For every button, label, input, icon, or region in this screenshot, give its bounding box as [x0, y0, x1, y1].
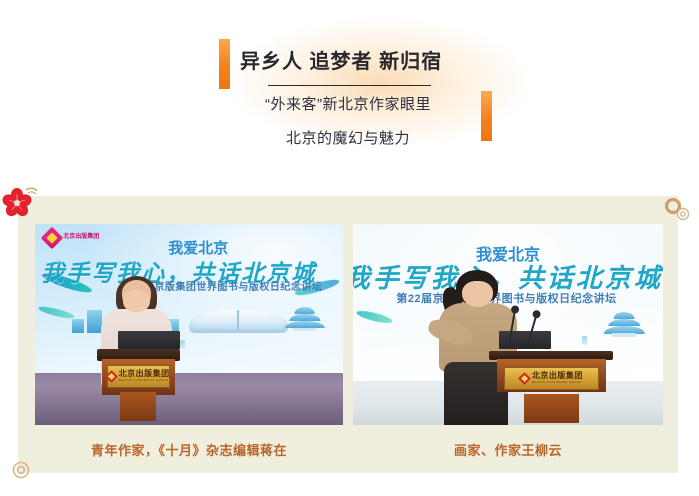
photo-caption-left: 青年作家，《十月》杂志编辑蒋在	[35, 440, 343, 459]
podium-logo-mark-icon	[107, 370, 118, 383]
podium-stem	[120, 392, 157, 421]
plum-blossom-icon	[2, 183, 42, 223]
publisher-logo-left: 北京出版集团	[44, 230, 99, 246]
photo-right[interactable]: 我爱北京 我手写我心，共话北京城 第22届京版集团世界图书与版权日纪念讲坛 北京…	[353, 224, 663, 425]
concentric-circles-icon	[664, 197, 694, 223]
ribbon-swoosh-icon	[356, 309, 394, 326]
photo-caption-right: 画家、作家王柳云	[353, 440, 663, 459]
stage-backdrop-left: 我爱北京 我手写我心，共话北京城 第22届京版集团世界图书与版权日纪念讲坛 北京…	[35, 224, 343, 373]
podium-sign-text-en: BEIJING PUBLISHING GROUP	[532, 381, 583, 384]
laptop-icon	[118, 331, 180, 349]
water-bottle-icon	[180, 340, 185, 349]
subtitle-line-1: “外来客”新北京作家眼里	[198, 93, 498, 114]
podium-logo-mark-icon	[518, 372, 531, 385]
page-title: 异乡人 追梦者 新归宿	[240, 48, 500, 76]
podium-right: 北京出版集团 BEIJING PUBLISHING GROUP	[489, 351, 613, 423]
subtitle-line-2: 北京的魔幻与魅力	[198, 127, 498, 148]
publisher-logo-text: 北京出版集团	[63, 234, 99, 242]
water-bottle-icon	[582, 336, 587, 345]
podium-plaque-right: 北京出版集团 BEIJING PUBLISHING GROUP	[504, 367, 598, 390]
publisher-logo-mark-icon	[41, 227, 64, 250]
accent-bar-left	[219, 39, 230, 89]
temple-of-heaven-icon	[604, 310, 644, 337]
photo-left[interactable]: 我爱北京 我手写我心，共话北京城 第22届京版集团世界图书与版权日纪念讲坛 北京…	[35, 224, 343, 425]
header-section: 异乡人 追梦者 新归宿 “外来客”新北京作家眼里 北京的魔幻与魅力	[0, 0, 699, 190]
open-book-icon	[189, 309, 288, 333]
laptop-icon	[499, 331, 552, 349]
speaker-face	[123, 290, 150, 313]
ribbon-swoosh-icon	[38, 304, 76, 320]
podium-plaque-left: 北京出版集团 BEIJING PUBLISHING GROUP	[107, 365, 170, 388]
podium-left: 北京出版集团 BEIJING PUBLISHING GROUP	[97, 349, 180, 421]
stage-floor-left	[35, 373, 343, 425]
podium-stem	[524, 394, 579, 423]
podium-sign-text-en: BEIJING PUBLISHING GROUP	[119, 379, 170, 382]
title-divider	[268, 85, 431, 86]
page-root: 异乡人 追梦者 新归宿 “外来客”新北京作家眼里 北京的魔幻与魅力	[0, 0, 699, 496]
concentric-circle-icon	[11, 460, 31, 480]
temple-of-heaven-icon	[285, 306, 325, 331]
